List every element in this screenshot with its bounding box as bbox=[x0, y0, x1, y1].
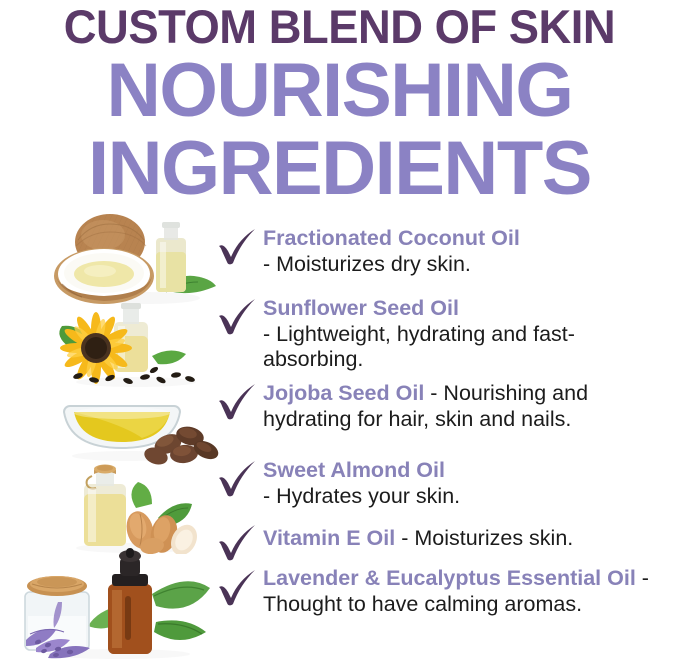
ingredient-text: Vitamin E Oil - Moisturizes skin. bbox=[263, 526, 671, 552]
heading-line-custom-blend: CUSTOM BLEND OF SKIN bbox=[12, 2, 667, 52]
almond-oil-image bbox=[48, 462, 220, 554]
lavender-eucalyptus-oil-image bbox=[24, 544, 212, 659]
ingredient-text: Sunflower Seed Oil - Lightweight, hydrat… bbox=[263, 296, 671, 373]
ingredient-description: - Hydrates your skin. bbox=[263, 484, 460, 508]
ingredient-description: - Moisturizes skin. bbox=[401, 526, 573, 550]
checkmark-icon bbox=[216, 522, 260, 562]
ingredient-text: Lavender & Eucalyptus Essential Oil - Th… bbox=[263, 566, 671, 617]
ingredient-description: - Moisturizes dry skin. bbox=[263, 252, 471, 276]
ingredient-text: Sweet Almond Oil - Hydrates your skin. bbox=[263, 458, 671, 509]
ingredients-infographic: CUSTOM BLEND OF SKIN NOURISHING INGREDIE… bbox=[0, 0, 679, 659]
heading-line-ingredients: INGREDIENTS bbox=[0, 130, 679, 208]
checkmark-icon bbox=[216, 567, 260, 607]
checkmark-icon bbox=[216, 296, 260, 336]
ingredient-name: Vitamin E Oil bbox=[263, 526, 395, 550]
sunflower-oil-image bbox=[48, 300, 220, 390]
ingredient-name: Fractionated Coconut Oil bbox=[263, 226, 520, 250]
ingredient-name: Sunflower Seed Oil bbox=[263, 296, 459, 320]
ingredient-name: Jojoba Seed Oil bbox=[263, 381, 424, 405]
checkmark-icon bbox=[216, 381, 260, 421]
poster-heading: CUSTOM BLEND OF SKIN NOURISHING INGREDIE… bbox=[0, 0, 679, 208]
ingredient-description: - Lightweight, hydrating and fast-absorb… bbox=[263, 322, 575, 372]
ingredient-text: Jojoba Seed Oil - Nourishing and hydrati… bbox=[263, 381, 671, 432]
ingredient-text: Fractionated Coconut Oil - Moisturizes d… bbox=[263, 226, 671, 277]
ingredient-name: Lavender & Eucalyptus Essential Oil bbox=[263, 566, 636, 590]
coconut-oil-image bbox=[48, 210, 220, 308]
ingredient-list: Fractionated Coconut Oil - Moisturizes d… bbox=[0, 204, 679, 659]
checkmark-icon bbox=[216, 458, 260, 498]
ingredient-name: Sweet Almond Oil bbox=[263, 458, 445, 482]
heading-line-nourishing: NOURISHING bbox=[3, 52, 675, 130]
jojoba-oil-image bbox=[48, 386, 220, 468]
checkmark-icon bbox=[216, 226, 260, 266]
